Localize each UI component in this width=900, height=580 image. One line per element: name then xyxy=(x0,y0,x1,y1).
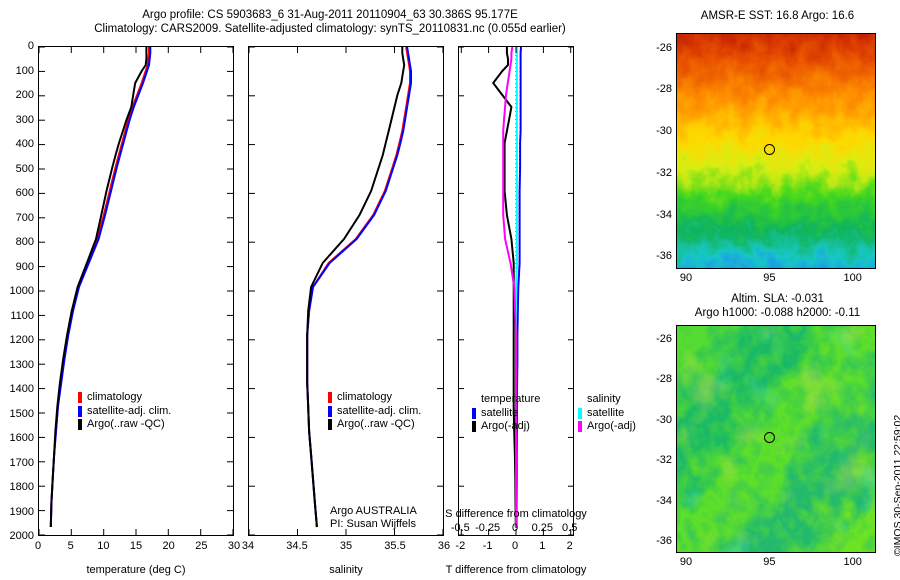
depth-tick-label: 1100 xyxy=(0,310,34,322)
s-difference-tick-label: -0.25 xyxy=(475,522,500,534)
legend-label: satellite-adj. clim. xyxy=(87,405,171,419)
legend-swatch-climatology xyxy=(328,392,332,403)
salinity-axis-label: salinity xyxy=(248,564,444,576)
depth-tick-label: 2000 xyxy=(0,530,34,542)
map-sst-lon-tick-label: 90 xyxy=(680,272,692,284)
depth-tick-label: 1700 xyxy=(0,457,34,469)
temperature-tick-label: 10 xyxy=(97,540,109,552)
difference-curves xyxy=(459,47,573,535)
s-difference-axis-label: S difference from climatology xyxy=(440,508,592,520)
map-sla-lat-tick-label: -36 xyxy=(636,535,672,547)
legend-swatch-satellite-adj xyxy=(78,406,82,417)
legend-item: satellite xyxy=(578,407,636,421)
legend-item: Argo(-adj) xyxy=(472,420,540,434)
t-difference-tick-label: -1 xyxy=(483,540,493,552)
salinity-curves xyxy=(249,47,443,535)
legend-item: Argo(-adj) xyxy=(578,420,636,434)
legend-item: satellite xyxy=(472,407,540,421)
depth-tick-label: 900 xyxy=(0,261,34,273)
legend-label: Argo(..raw -QC) xyxy=(87,418,165,432)
legend-swatch-climatology xyxy=(78,392,82,403)
legend-swatch-argo-raw xyxy=(78,419,82,430)
depth-tick-label: 1600 xyxy=(0,432,34,444)
map-sla-lat-tick-label: -30 xyxy=(636,414,672,426)
depth-tick-label: 300 xyxy=(0,114,34,126)
map-sst-lon-tick-label: 100 xyxy=(843,272,861,284)
map-sst[interactable] xyxy=(676,33,876,269)
figure-title-line2: Climatology: CARS2009. Satellite-adjuste… xyxy=(0,22,660,36)
map-sla-title-line1: Altim. SLA: -0.031 xyxy=(660,292,895,306)
map-sla-lat-tick-label: -32 xyxy=(636,454,672,466)
map-sst-lat-tick-label: -34 xyxy=(636,209,672,221)
t-difference-axis-label: T difference from climatology xyxy=(440,564,592,576)
map-sst-lon-tick-label: 95 xyxy=(763,272,775,284)
legend-label: Argo(-adj) xyxy=(481,420,530,434)
temperature-tick-label: 30 xyxy=(228,540,240,552)
legend-label: climatology xyxy=(87,391,142,405)
legend-swatch-temperature-argo xyxy=(472,421,476,432)
t-difference-tick-label: 0 xyxy=(512,540,518,552)
map-sla-lon-tick-label: 100 xyxy=(843,556,861,568)
temperature-axis-label: temperature (deg C) xyxy=(38,564,234,576)
difference-plot-axes xyxy=(458,46,574,536)
legend-swatch-temperature-satellite xyxy=(472,408,476,419)
legend-header-temperature: temperature xyxy=(472,393,540,407)
legend-item: satellite-adj. clim. xyxy=(78,405,171,419)
legend-label: satellite-adj. clim. xyxy=(337,405,421,419)
legend-swatch-argo-raw xyxy=(328,419,332,430)
depth-tick-label: 600 xyxy=(0,187,34,199)
depth-tick-label: 1800 xyxy=(0,481,34,493)
map-sst-raster xyxy=(677,34,875,268)
legend-item: Argo(..raw -QC) xyxy=(78,418,171,432)
depth-tick-label: 200 xyxy=(0,89,34,101)
depth-tick-label: 100 xyxy=(0,65,34,77)
map-sla[interactable] xyxy=(676,325,876,553)
t-difference-tick-label: 1 xyxy=(539,540,545,552)
map-sla-lat-tick-label: -34 xyxy=(636,495,672,507)
legend-item: climatology xyxy=(328,391,421,405)
map-sst-lat-tick-label: -30 xyxy=(636,125,672,137)
legend-swatch-satellite-adj xyxy=(328,406,332,417)
temperature-plot-axes xyxy=(38,46,234,536)
legend-label: satellite xyxy=(587,407,624,421)
map-sst-lat-tick-label: -36 xyxy=(636,250,672,262)
map-sla-lat-tick-label: -28 xyxy=(636,373,672,385)
s-difference-tick-label: 0.25 xyxy=(532,522,553,534)
figure-title-line1: Argo profile: CS 5903683_6 31-Aug-2011 2… xyxy=(0,8,660,22)
depth-tick-label: 1200 xyxy=(0,334,34,346)
depth-tick-label: 0 xyxy=(0,40,34,52)
map-sst-title: AMSR-E SST: 16.8 Argo: 16.6 xyxy=(660,9,895,23)
temperature-tick-label: 5 xyxy=(68,540,74,552)
curve-argo-raw xyxy=(307,47,404,527)
legend-item: Argo(..raw -QC) xyxy=(328,418,421,432)
depth-tick-label: 1900 xyxy=(0,506,34,518)
salinity-legend: climatology satellite-adj. clim. Argo(..… xyxy=(328,391,421,432)
legend-item: climatology xyxy=(78,391,171,405)
temperature-tick-label: 0 xyxy=(35,540,41,552)
argo-australia-credit-line2: PI: Susan Wijffels xyxy=(330,518,416,531)
legend-label: Argo(..raw -QC) xyxy=(337,418,415,432)
difference-legend-temperature: temperature satellite Argo(-adj) xyxy=(472,393,540,434)
legend-label: Argo(-adj) xyxy=(587,420,636,434)
salinity-tick-label: 34 xyxy=(242,540,254,552)
temperature-legend: climatology satellite-adj. clim. Argo(..… xyxy=(78,391,171,432)
curve-satellite-adj-clim xyxy=(51,47,151,527)
depth-tick-label: 400 xyxy=(0,138,34,150)
salinity-tick-label: 36 xyxy=(438,540,450,552)
difference-legend-salinity: salinity satellite Argo(-adj) xyxy=(578,393,636,434)
curve-climatology xyxy=(307,47,410,527)
salinity-axis-ticks xyxy=(249,47,443,535)
map-sla-lon-tick-label: 95 xyxy=(763,556,775,568)
argo-position-marker xyxy=(764,144,775,155)
curve-argo-raw xyxy=(51,47,147,527)
curve-satellite-adj-clim xyxy=(307,47,411,527)
legend-swatch-salinity-satellite xyxy=(578,408,582,419)
map-sla-lat-tick-label: -26 xyxy=(636,333,672,345)
imos-credit: ©IMOS 30-Sep-2011 22:59:02 xyxy=(892,415,900,556)
depth-tick-label: 1000 xyxy=(0,285,34,297)
map-sla-raster xyxy=(677,326,875,552)
t-difference-tick-label: -2 xyxy=(455,540,465,552)
s-difference-tick-label: 0 xyxy=(512,522,518,534)
salinity-plot-axes xyxy=(248,46,444,536)
temperature-curves xyxy=(39,47,233,535)
depth-tick-label: 500 xyxy=(0,163,34,175)
temperature-tick-label: 15 xyxy=(130,540,142,552)
salinity-tick-label: 35 xyxy=(340,540,352,552)
salinity-tick-label: 35.5 xyxy=(384,540,405,552)
t-difference-tick-label: 2 xyxy=(567,540,573,552)
s-difference-tick-label: -0.5 xyxy=(451,522,470,534)
argo-position-marker xyxy=(764,432,775,443)
map-sla-title-line2: Argo h1000: -0.088 h2000: -0.11 xyxy=(655,306,900,320)
legend-header-salinity: salinity xyxy=(578,393,636,407)
depth-tick-label: 1500 xyxy=(0,408,34,420)
map-sst-lat-tick-label: -28 xyxy=(636,83,672,95)
map-sst-lat-tick-label: -32 xyxy=(636,167,672,179)
legend-swatch-salinity-argo xyxy=(578,421,582,432)
depth-tick-label: 1300 xyxy=(0,359,34,371)
argo-australia-credit-line1: Argo AUSTRALIA xyxy=(330,505,417,518)
legend-item: satellite-adj. clim. xyxy=(328,405,421,419)
map-sst-lat-tick-label: -26 xyxy=(636,42,672,54)
salinity-tick-label: 34.5 xyxy=(286,540,307,552)
depth-tick-label: 800 xyxy=(0,236,34,248)
legend-label: satellite xyxy=(481,407,518,421)
map-sla-lon-tick-label: 90 xyxy=(680,556,692,568)
legend-label: climatology xyxy=(337,391,392,405)
temperature-tick-label: 25 xyxy=(195,540,207,552)
s-difference-tick-label: 0.5 xyxy=(562,522,577,534)
depth-tick-label: 700 xyxy=(0,212,34,224)
temperature-axis-ticks xyxy=(39,47,233,535)
curve-climatology xyxy=(51,47,149,527)
temperature-tick-label: 20 xyxy=(163,540,175,552)
depth-tick-label: 1400 xyxy=(0,383,34,395)
